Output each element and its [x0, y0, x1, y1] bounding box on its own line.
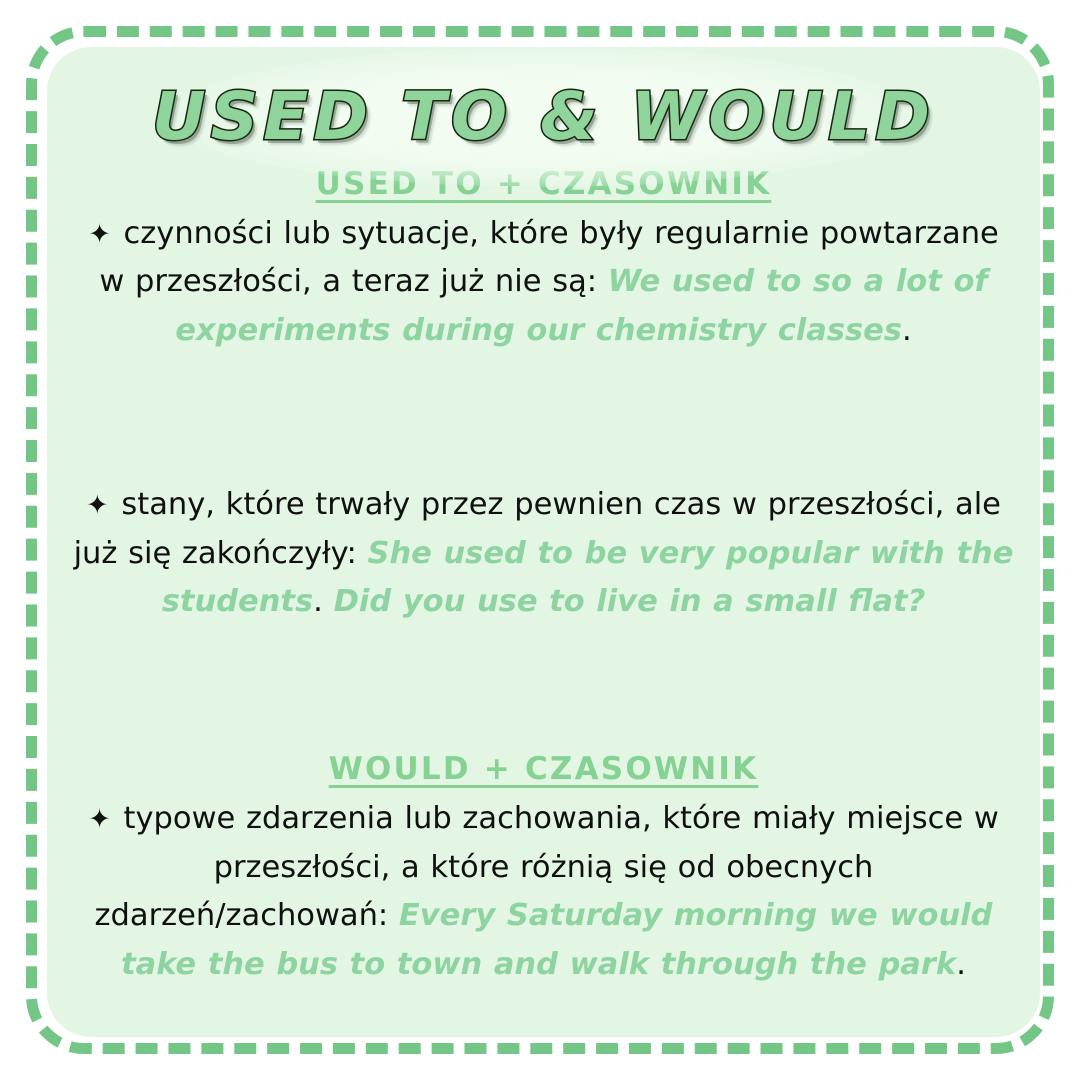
poster: USED TO & WOULD USED TO + CZASOWNIK ✦ cz… [0, 0, 1080, 1080]
section-used-to: USED TO + CZASOWNIK ✦ czynności lub sytu… [65, 164, 1022, 627]
bullet-diamond-icon: ✦ [86, 490, 111, 521]
section-would: WOULD + CZASOWNIK ✦ typowe zdarzenia lub… [65, 749, 1022, 989]
example-mid-punctuation: . [313, 584, 323, 619]
content-panel: USED TO & WOULD USED TO + CZASOWNIK ✦ cz… [47, 47, 1040, 1037]
bullet-item-used-to-2: ✦ stany, które trwały przez pewnien czas… [65, 481, 1022, 626]
section-heading-would: WOULD + CZASOWNIK [65, 749, 1022, 789]
example-end-punctuation: . [956, 947, 966, 982]
page-title: USED TO & WOULD [152, 81, 935, 154]
bullet-diamond-icon: ✦ [88, 804, 113, 835]
content-area: USED TO & WOULD USED TO + CZASOWNIK ✦ cz… [47, 47, 1040, 1037]
example-end-punctuation: . [902, 313, 912, 348]
bullet-item-would-1: ✦ typowe zdarzenia lub zachowania, które… [65, 795, 1022, 989]
bullet-diamond-icon: ✦ [88, 219, 113, 250]
example-sentence-2: Did you use to live in a small flat? [334, 584, 926, 619]
spacer-between-sections [65, 627, 1022, 749]
spacer [65, 355, 1022, 481]
section-heading-used-to: USED TO + CZASOWNIK [65, 164, 1022, 204]
bullet-item-used-to-1: ✦ czynności lub sytuacje, które były reg… [65, 210, 1022, 355]
title-block: USED TO & WOULD [65, 81, 1022, 154]
